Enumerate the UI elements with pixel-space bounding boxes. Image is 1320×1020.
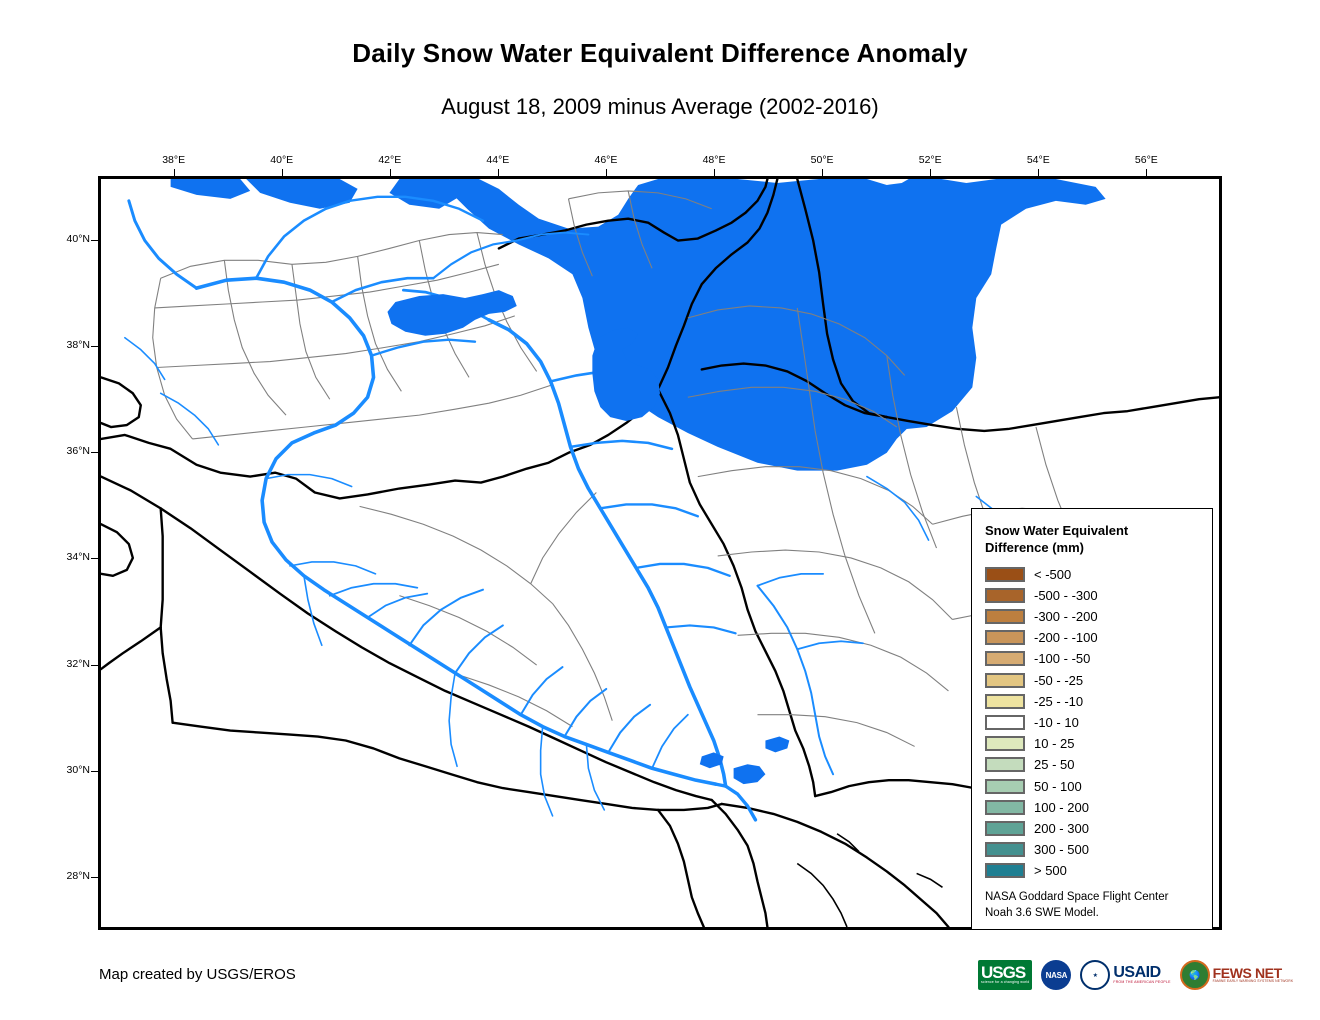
legend-row[interactable]: 200 - 300 [985,818,1212,839]
legend-class-list: < -500-500 - -300-300 - -200-200 - -100-… [985,564,1212,882]
legend-row[interactable]: 100 - 200 [985,797,1212,818]
legend-swatch [985,736,1025,751]
fews-net-logo[interactable]: 🌎 FEWS NET FAMINE EARLY WARNING SYSTEMS … [1180,960,1294,990]
legend-label: -200 - -100 [1034,630,1098,645]
legend-row[interactable]: -100 - -50 [985,648,1212,669]
legend-label: 300 - 500 [1034,842,1089,857]
lat-tick-label: 36°N [30,445,90,457]
legend-label: -500 - -300 [1034,588,1098,603]
legend-row[interactable]: -500 - -300 [985,585,1212,606]
usgs-logo-text: USGS [981,965,1029,981]
legend-label: -100 - -50 [1034,651,1090,666]
legend-footer-line1: NASA Goddard Space Flight Center [985,890,1200,906]
legend-swatch [985,779,1025,794]
legend-swatch [985,715,1025,730]
legend-swatch [985,630,1025,645]
legend-label: 200 - 300 [1034,821,1089,836]
legend-label: -25 - -10 [1034,694,1083,709]
legend-label: 10 - 25 [1034,736,1074,751]
legend-footer: NASA Goddard Space Flight Center Noah 3.… [985,890,1200,921]
legend-label: 100 - 200 [1034,800,1089,815]
map-credit: Map created by USGS/EROS [99,966,296,983]
lon-tick-mark [714,169,715,176]
lon-tick-mark [822,169,823,176]
legend-row[interactable]: -10 - 10 [985,712,1212,733]
logo-bar: USGS science for a changing world NASA ★… [978,957,1293,993]
legend-label: < -500 [1034,567,1071,582]
lon-tick-mark [930,169,931,176]
legend-swatch [985,757,1025,772]
page-subtitle: August 18, 2009 minus Average (2002-2016… [0,94,1320,120]
lat-tick-mark [91,558,98,559]
legend-label: -300 - -200 [1034,609,1098,624]
nasa-logo-text: NASA [1041,960,1071,990]
lon-tick-mark [174,169,175,176]
lat-tick-mark [91,452,98,453]
lat-tick-label: 38°N [30,339,90,351]
legend-label: > 500 [1034,863,1067,878]
legend-swatch [985,800,1025,815]
fews-logo-tagline: FAMINE EARLY WARNING SYSTEMS NETWORK [1213,980,1294,983]
lon-tick-label: 56°E [1116,154,1176,166]
lat-tick-label: 30°N [30,764,90,776]
usgs-logo[interactable]: USGS science for a changing world [978,960,1032,990]
lat-tick-label: 28°N [30,870,90,882]
legend-title-line2: Difference (mm) [985,539,1185,556]
legend-row[interactable]: -200 - -100 [985,627,1212,648]
legend-label: -50 - -25 [1034,673,1083,688]
lon-tick-label: 54°E [1008,154,1068,166]
lon-tick-label: 40°E [252,154,312,166]
legend-swatch [985,863,1025,878]
legend-row[interactable]: > 500 [985,860,1212,881]
lon-tick-label: 44°E [468,154,528,166]
lat-tick-label: 34°N [30,551,90,563]
legend-swatch [985,651,1025,666]
lon-tick-mark [1146,169,1147,176]
usaid-logo-tagline: FROM THE AMERICAN PEOPLE [1113,981,1170,985]
legend-swatch [985,842,1025,857]
legend-title: Snow Water Equivalent Difference (mm) [985,522,1185,557]
lon-tick-label: 42°E [360,154,420,166]
legend-swatch [985,694,1025,709]
legend-row[interactable]: 10 - 25 [985,733,1212,754]
legend-label: 50 - 100 [1034,779,1082,794]
legend-swatch [985,588,1025,603]
legend-row[interactable]: 300 - 500 [985,839,1212,860]
legend-row[interactable]: < -500 [985,564,1212,585]
lon-tick-mark [606,169,607,176]
lon-tick-mark [1038,169,1039,176]
fews-logo-text: FEWS NET [1213,966,1294,980]
lon-tick-label: 50°E [792,154,852,166]
globe-icon: 🌎 [1180,960,1210,990]
legend-swatch [985,567,1025,582]
lat-tick-label: 32°N [30,658,90,670]
legend-label: 25 - 50 [1034,757,1074,772]
legend-label: -10 - 10 [1034,715,1079,730]
lat-tick-label: 40°N [30,233,90,245]
lon-tick-mark [390,169,391,176]
lon-tick-mark [498,169,499,176]
legend-row[interactable]: -50 - -25 [985,670,1212,691]
lon-tick-label: 46°E [576,154,636,166]
usaid-logo-text: USAID [1113,965,1170,981]
usaid-seal-icon: ★ [1080,960,1110,990]
legend-swatch [985,673,1025,688]
legend-row[interactable]: -25 - -10 [985,691,1212,712]
lat-tick-mark [91,665,98,666]
page-title: Daily Snow Water Equivalent Difference A… [0,38,1320,69]
legend-swatch [985,609,1025,624]
legend-row[interactable]: 50 - 100 [985,775,1212,796]
lon-tick-mark [282,169,283,176]
lat-tick-mark [91,240,98,241]
usaid-logo[interactable]: ★ USAID FROM THE AMERICAN PEOPLE [1080,960,1170,990]
lat-tick-mark [91,771,98,772]
legend-swatch [985,821,1025,836]
usgs-logo-tagline: science for a changing world [981,981,1029,985]
legend-title-line1: Snow Water Equivalent [985,522,1185,539]
legend-row[interactable]: -300 - -200 [985,606,1212,627]
lat-tick-mark [91,877,98,878]
lon-tick-label: 38°E [144,154,204,166]
lat-tick-mark [91,346,98,347]
lon-tick-label: 52°E [900,154,960,166]
legend-footer-line2: Noah 3.6 SWE Model. [985,906,1200,922]
lon-tick-label: 48°E [684,154,744,166]
legend-row[interactable]: 25 - 50 [985,754,1212,775]
nasa-logo[interactable]: NASA [1041,960,1071,990]
map-legend[interactable]: Snow Water Equivalent Difference (mm) < … [971,508,1213,930]
